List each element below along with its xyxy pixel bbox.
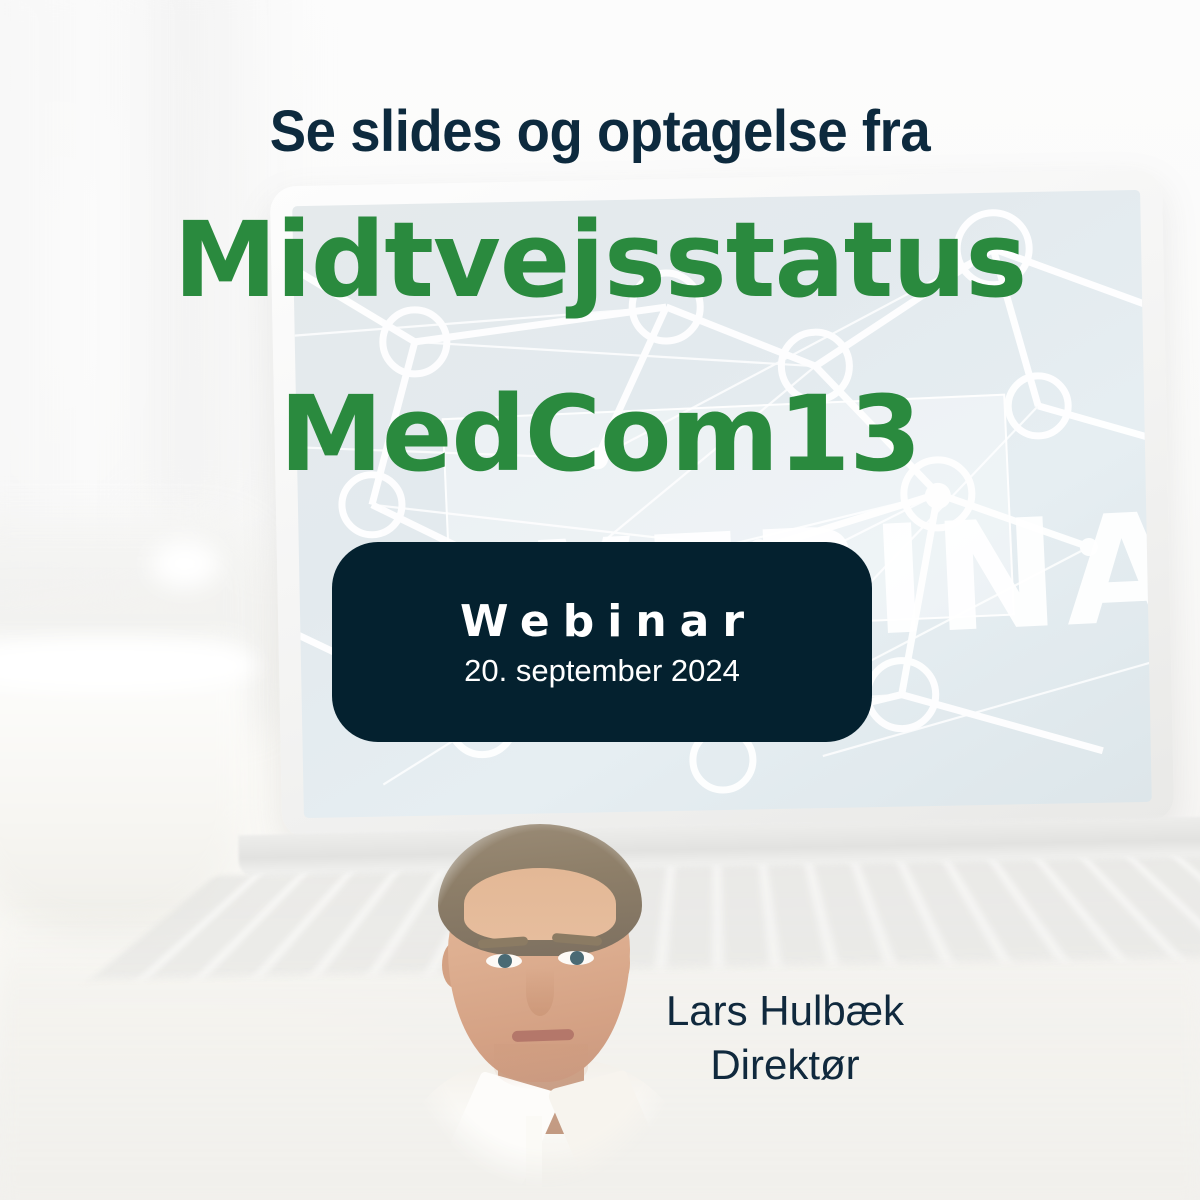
- poster-headline-line-2: MedCom13: [0, 382, 1200, 486]
- webinar-promo-poster: WEBINAR Se slides og optagelse fra Midtv…: [0, 0, 1200, 1200]
- portrait-nose: [526, 968, 554, 1016]
- speaker-name: Lars Hulbæk: [620, 984, 950, 1038]
- webinar-badge-title: Webinar: [447, 596, 757, 647]
- speaker-caption: Lars Hulbæk Direktør: [620, 984, 950, 1092]
- webinar-badge: Webinar 20. september 2024: [332, 542, 872, 742]
- portrait-iris-right: [570, 951, 584, 965]
- portrait-iris-left: [498, 954, 512, 968]
- poster-kicker: Se slides og optagelse fra: [36, 98, 1164, 165]
- speaker-role: Direktør: [620, 1038, 950, 1092]
- portrait-shirt-placket: [526, 1116, 542, 1200]
- portrait-mouth: [512, 1029, 574, 1042]
- portrait-chin-shadow: [494, 1044, 588, 1090]
- poster-headline-line-1: Midtvejsstatus: [0, 208, 1200, 312]
- webinar-badge-date: 20. september 2024: [464, 653, 740, 689]
- portrait-forehead: [464, 868, 616, 940]
- background-highlight-spot: [150, 540, 220, 588]
